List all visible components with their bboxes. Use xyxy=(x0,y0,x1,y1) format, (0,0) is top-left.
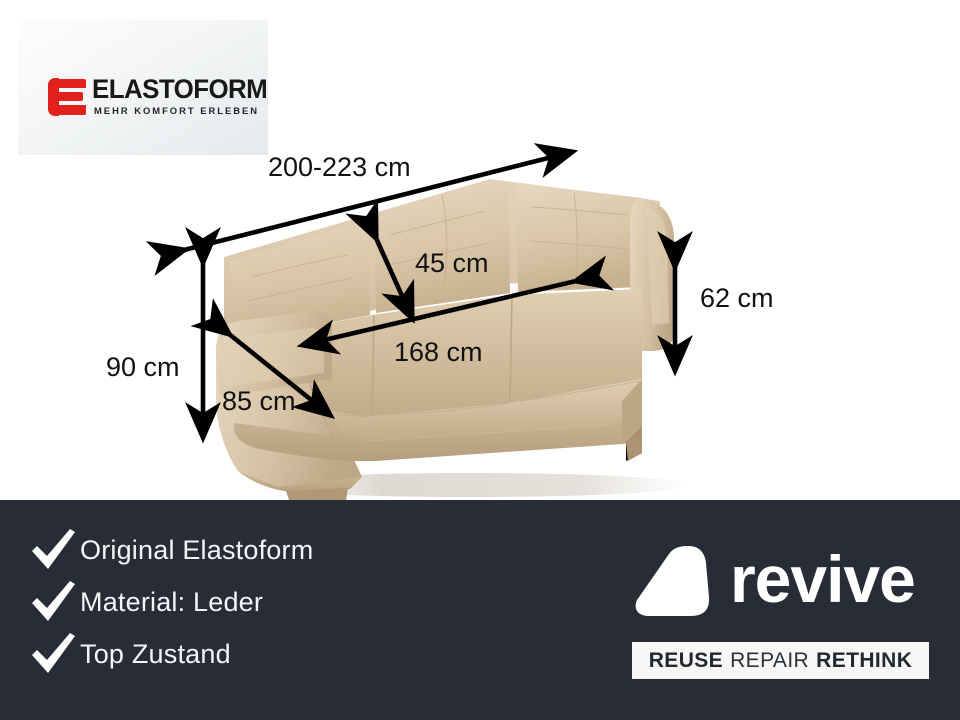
feature-item: Top Zustand xyxy=(28,628,498,680)
dimension-label-overall-width: 200-223 cm xyxy=(268,152,411,183)
dimension-label-seat-depth: 45 cm xyxy=(415,248,489,279)
tagline-word-rethink: RETHINK xyxy=(816,649,912,673)
dimension-label-arm-height: 62 cm xyxy=(700,283,774,314)
feature-label: Material: Leder xyxy=(80,587,263,618)
check-icon xyxy=(28,579,80,625)
feature-label: Original Elastoform xyxy=(80,535,313,566)
revive-leaf-icon xyxy=(633,542,713,620)
feature-list: Original Elastoform Material: Leder Top … xyxy=(28,524,498,680)
feature-item: Original Elastoform xyxy=(28,524,498,576)
svg-text:revive: revive xyxy=(730,542,915,616)
dimension-label-overall-depth: 85 cm xyxy=(222,386,296,417)
dimension-label-seat-width: 168 cm xyxy=(394,337,483,368)
sofa-image xyxy=(190,165,700,500)
brand-tagline: MEHR KOMFORT ERLEBEN xyxy=(94,105,259,116)
tagline-word-reuse: REUSE xyxy=(649,649,723,673)
brand-name: ELASTOFORM xyxy=(92,74,267,105)
feature-item: Material: Leder xyxy=(28,576,498,628)
product-photo-area: ELASTOFORM MEHR KOMFORT ERLEBEN xyxy=(0,0,960,500)
tagline-word-repair: REPAIR xyxy=(730,649,809,673)
revive-tagline-bar: REUSE REPAIR RETHINK xyxy=(632,642,929,679)
feature-label: Top Zustand xyxy=(80,639,231,670)
check-icon xyxy=(28,631,80,677)
revive-wordmark: revive xyxy=(730,540,930,622)
elastoform-e-mark-icon xyxy=(48,78,88,116)
elastoform-logo: ELASTOFORM MEHR KOMFORT ERLEBEN xyxy=(48,75,276,121)
brand-logo-panel: ELASTOFORM MEHR KOMFORT ERLEBEN xyxy=(18,20,268,155)
info-banner: Original Elastoform Material: Leder Top … xyxy=(0,500,960,720)
revive-logo: revive REUSE REPAIR RETHINK xyxy=(625,532,935,692)
product-listing-image: ELASTOFORM MEHR KOMFORT ERLEBEN xyxy=(0,0,960,720)
dimension-label-overall-height: 90 cm xyxy=(106,352,180,383)
check-icon xyxy=(28,527,80,573)
